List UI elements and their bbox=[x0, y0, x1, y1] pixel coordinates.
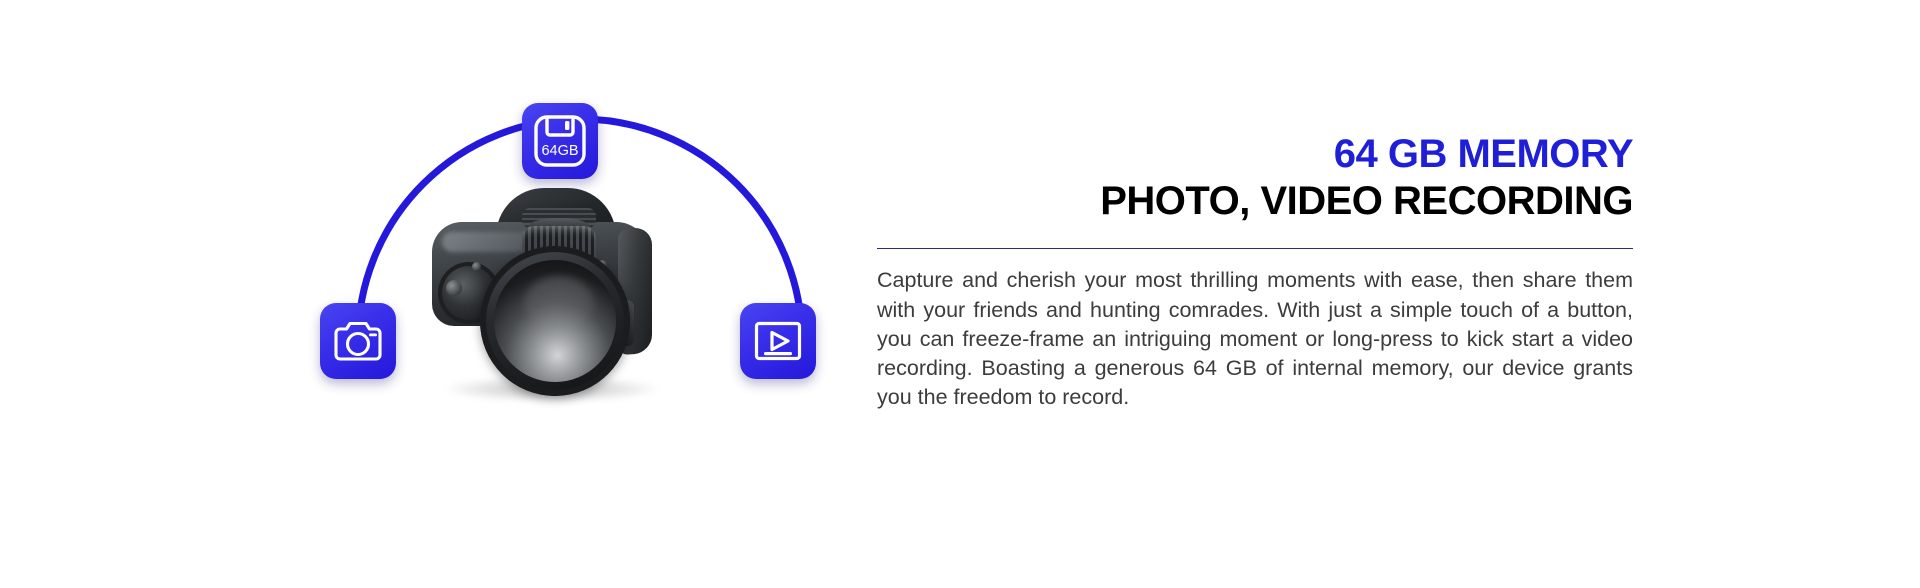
feature-tile-memory[interactable]: 64GB bbox=[522, 103, 598, 179]
visual-column: 64GB bbox=[0, 0, 880, 588]
heading-group: 64 GB MEMORY PHOTO, VIDEO RECORDING bbox=[877, 132, 1633, 224]
feature-panel: 64GB bbox=[0, 0, 1920, 588]
feature-tile-video[interactable] bbox=[740, 303, 816, 379]
scope-screw-dot bbox=[472, 262, 481, 271]
body-paragraph: Capture and cherish your most thrilling … bbox=[877, 266, 1633, 412]
product-image-thermal-scope bbox=[418, 188, 688, 408]
visual-stage: 64GB bbox=[300, 85, 860, 485]
heading-primary: 64 GB MEMORY bbox=[877, 132, 1633, 177]
scope-objective-lens bbox=[480, 246, 630, 396]
scope-lens-glass bbox=[494, 260, 616, 382]
scope-lens-gloss bbox=[524, 276, 594, 330]
text-block: 64 GB MEMORY PHOTO, VIDEO RECORDING Capt… bbox=[877, 132, 1633, 413]
feature-tile-photo[interactable] bbox=[320, 303, 396, 379]
memory-capacity-label: 64GB bbox=[541, 143, 578, 159]
heading-secondary: PHOTO, VIDEO RECORDING bbox=[877, 179, 1633, 224]
text-column: 64 GB MEMORY PHOTO, VIDEO RECORDING Capt… bbox=[880, 0, 1920, 588]
memory-card-icon: 64GB bbox=[531, 112, 589, 170]
camera-icon bbox=[330, 313, 386, 369]
video-play-icon bbox=[750, 313, 806, 369]
heading-divider bbox=[877, 248, 1633, 249]
